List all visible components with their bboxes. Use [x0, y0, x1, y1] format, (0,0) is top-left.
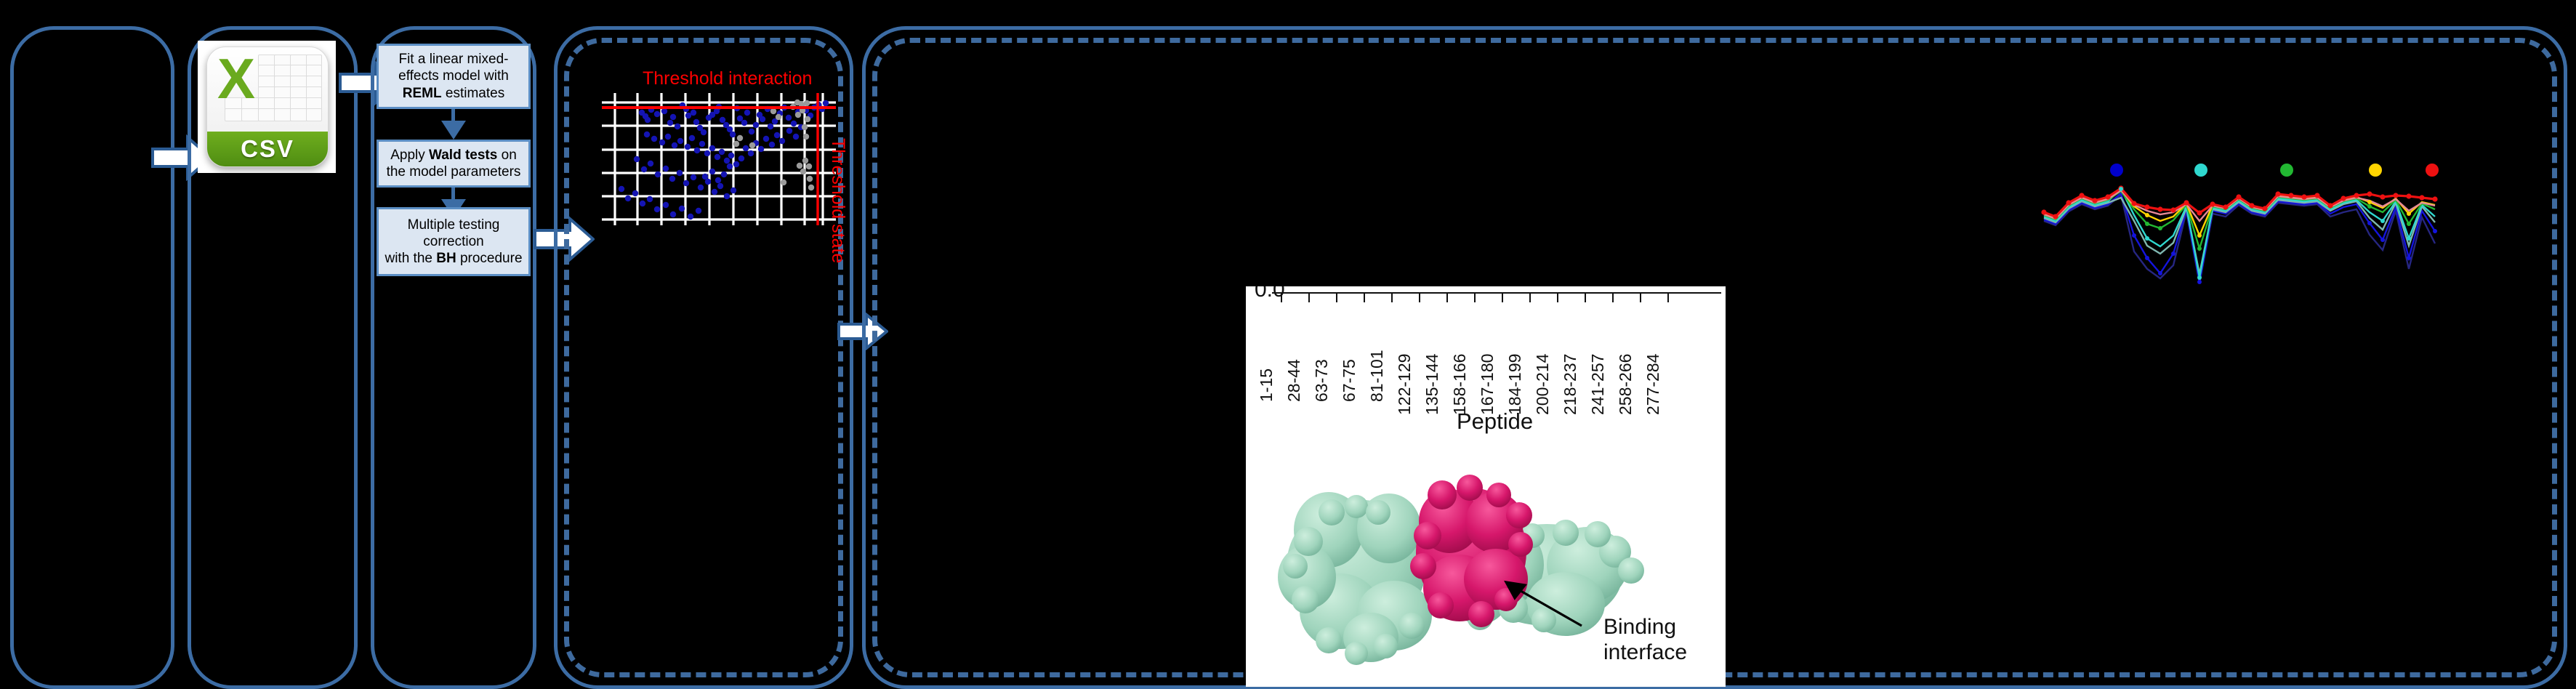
binding-annotation-line-1: Binding [1603, 615, 1687, 640]
fit-model-line-3: REML estimates [398, 85, 509, 102]
reml-emphasis: REML [403, 86, 442, 101]
peptide-line-chart [2028, 145, 2479, 291]
peptide-tick-label: 63-73 [1312, 359, 1332, 402]
peptide-tick-label: 200-214 [1533, 354, 1553, 415]
mt-line-3-c: procedure [456, 251, 523, 266]
wald-line-1-c: on [497, 148, 516, 163]
chart-x-axis-line [1272, 292, 1721, 294]
diagram-canvas: X CSV Fit a linear mixed- effects model … [0, 0, 2576, 687]
binding-annotation-line-2: interface [1603, 640, 1687, 666]
scatter-plot-svg [602, 93, 836, 225]
csv-x-letter: X [217, 50, 255, 107]
chart-series-lines [2044, 188, 2435, 283]
fit-model-line-2: effects model with [398, 68, 509, 84]
peptide-tick-label: 1-15 [1257, 368, 1276, 402]
peptide-tick-label: 135-144 [1422, 354, 1442, 415]
peptide-tick-label: 122-129 [1395, 354, 1414, 415]
threshold-state-label: Threshold state [827, 138, 848, 263]
chart-legend [2110, 164, 2439, 177]
chart-x-axis-title: Peptide [1457, 408, 1533, 435]
legend-dot-series-5 [2426, 164, 2439, 177]
results-figure-content: 0.0 1-15 28-44 63-73 67-75 81-101 12 [1246, 286, 1726, 687]
peptide-tick-label: 81-101 [1367, 350, 1387, 402]
wald-tests-box: Apply Wald tests on the model parameters [377, 140, 531, 188]
mt-line-2: correction [385, 233, 522, 250]
multiple-testing-box: Multiple testing correction with the BH … [377, 207, 531, 276]
csv-icon: X CSV [206, 47, 329, 167]
protein-surface-left [1278, 492, 1432, 665]
fit-model-line-3-rest: estimates [442, 86, 505, 101]
legend-dot-series-1 [2110, 164, 2123, 177]
peptide-tick-label: 277-284 [1643, 354, 1663, 415]
connector-fit-to-wald-arrowhead [441, 121, 466, 140]
csv-band: CSV [207, 132, 328, 166]
binding-interface-annotation: Binding interface [1603, 615, 1687, 665]
fit-model-line-1: Fit a linear mixed- [398, 51, 509, 68]
peptide-tick-label: 258-266 [1616, 354, 1635, 415]
bh-emphasis: BH [436, 251, 456, 266]
mt-line-3: with the BH procedure [385, 250, 522, 267]
legend-dot-series-3 [2280, 164, 2293, 177]
wald-emphasis: Wald tests [429, 148, 497, 163]
legend-dot-series-2 [2194, 164, 2207, 177]
peptide-tick-label: 167-180 [1478, 354, 1497, 415]
peptide-tick-label: 184-199 [1505, 354, 1525, 415]
peptide-tick-label: 158-166 [1450, 354, 1470, 415]
protein-binding-interface [1410, 475, 1533, 627]
wald-line-2: the model parameters [387, 164, 521, 180]
wald-line-1-a: Apply [390, 148, 429, 163]
peptide-tick-label: 241-257 [1588, 354, 1608, 415]
peptide-tick-label: 28-44 [1284, 359, 1304, 402]
peptide-line-chart-svg [2028, 145, 2479, 291]
peptide-tick-label: 218-237 [1561, 354, 1580, 415]
csv-file-image: X CSV [198, 41, 336, 173]
csv-band-label: CSV [241, 135, 294, 163]
mt-line-3-a: with the [385, 251, 436, 266]
mt-line-1: Multiple testing [385, 217, 522, 233]
panel-1-empty [10, 26, 174, 689]
legend-dot-series-4 [2369, 164, 2382, 177]
fit-model-box: Fit a linear mixed- effects model with R… [377, 44, 531, 109]
scatter-plot [602, 93, 836, 225]
wald-line-1: Apply Wald tests on [387, 147, 521, 164]
peptide-tick-label: 67-75 [1340, 359, 1359, 402]
threshold-interaction-label: Threshold interaction [643, 68, 812, 89]
